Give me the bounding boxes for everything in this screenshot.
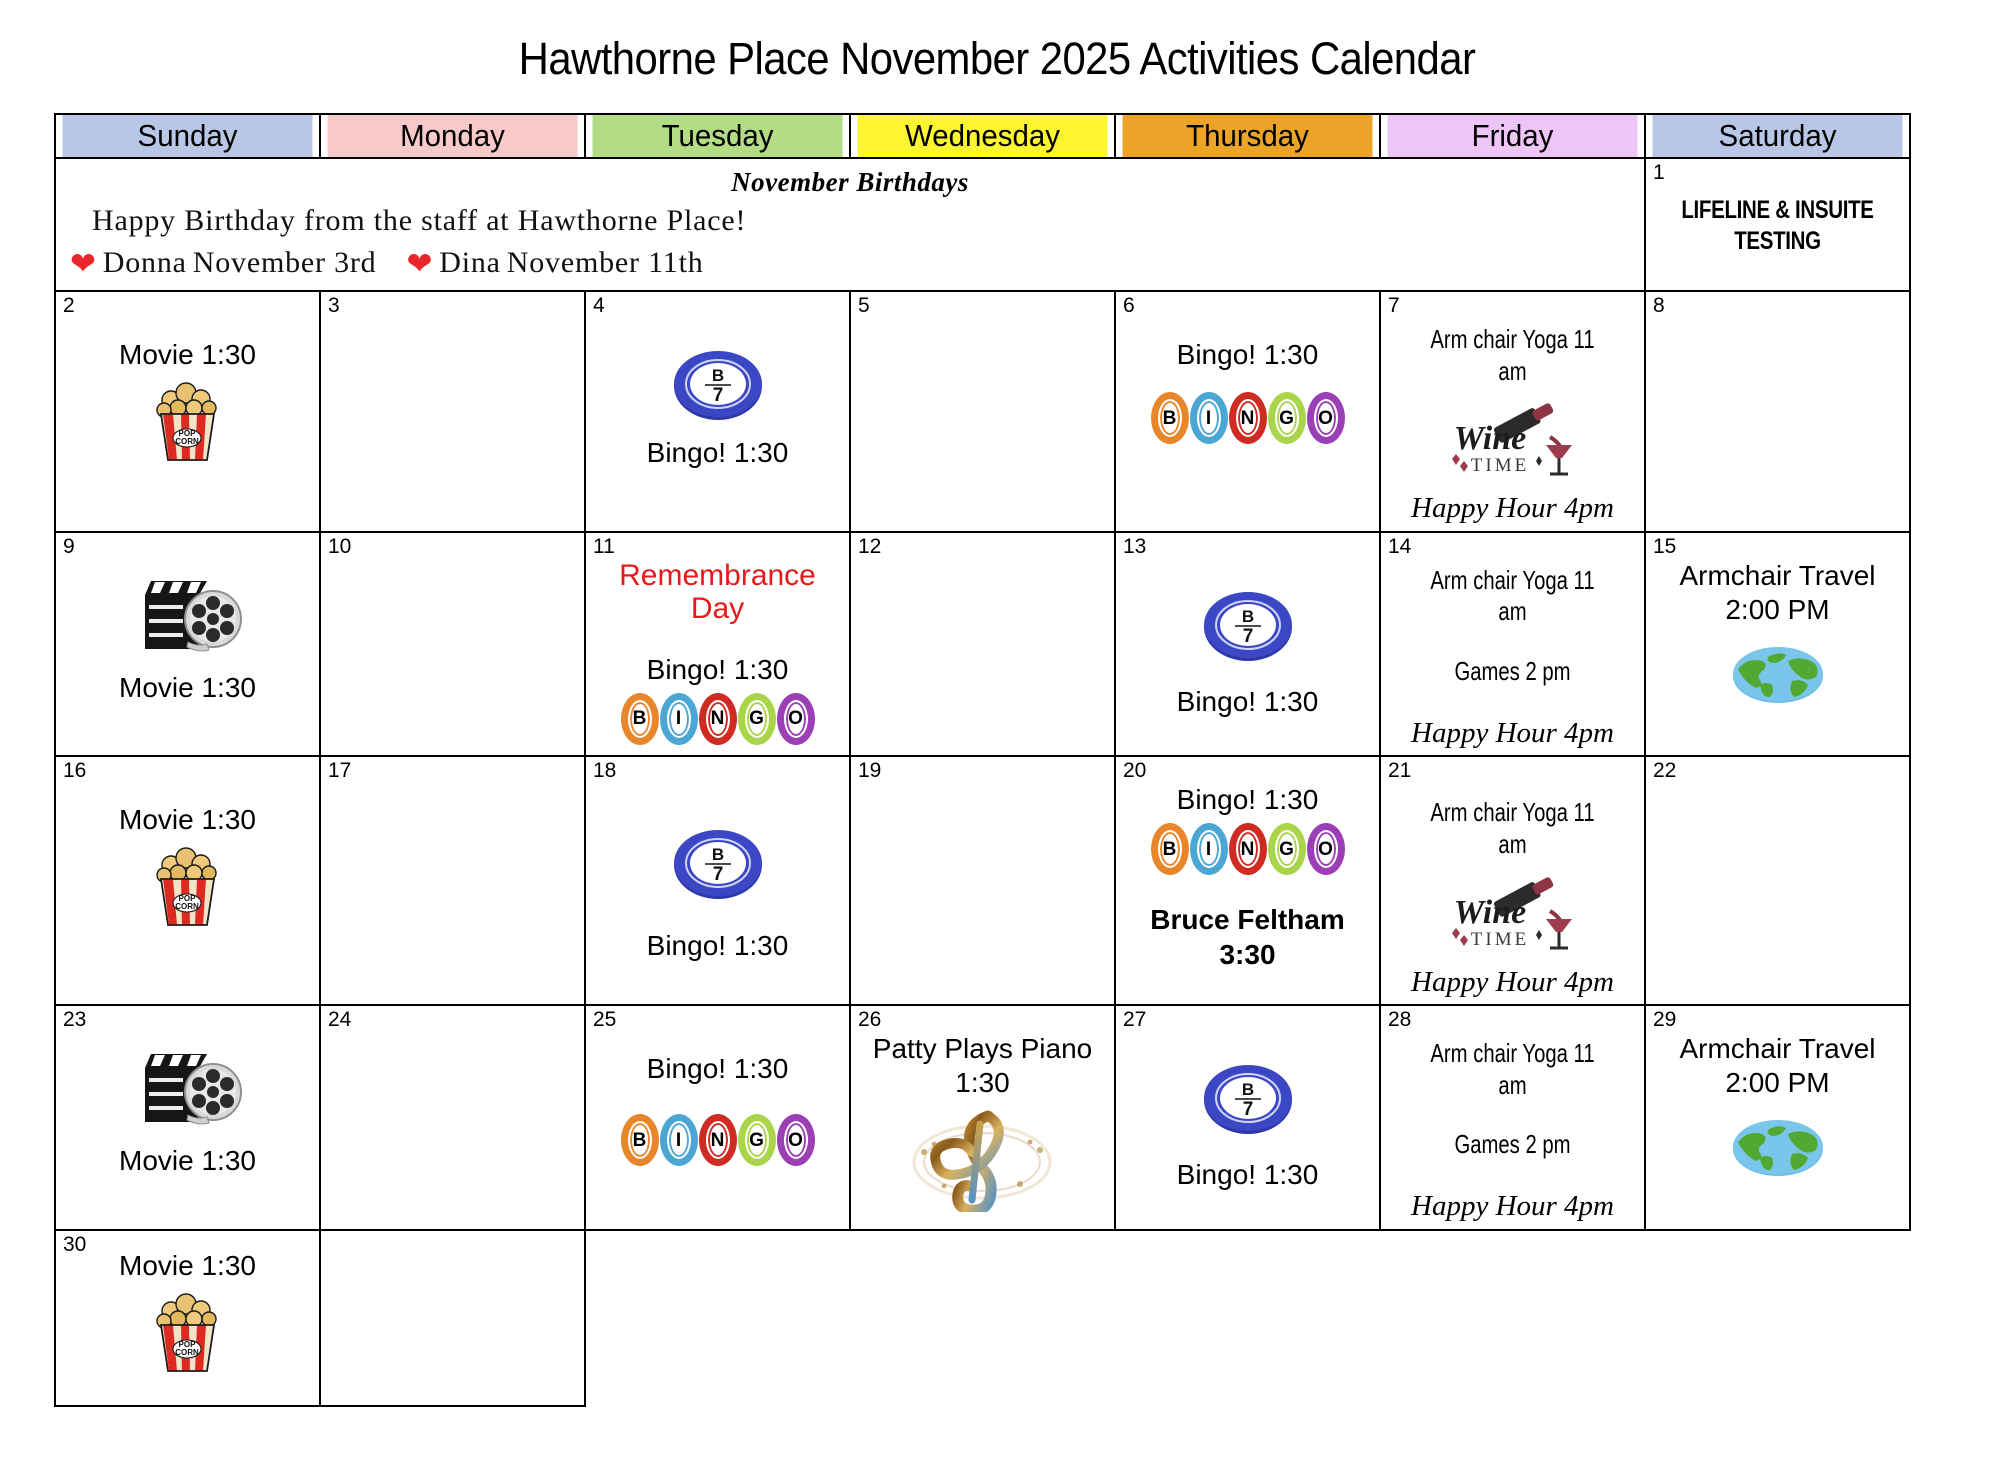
event-armchair-travel-time: 2:00 PM bbox=[1651, 1066, 1904, 1100]
svg-text:B: B bbox=[1241, 607, 1253, 626]
weekday-header-thursday: Thursday bbox=[1122, 114, 1374, 158]
event-bingo: Bingo! 1:30 bbox=[591, 929, 844, 963]
calendar-week-3: 9 bbox=[55, 532, 1910, 757]
svg-text:B: B bbox=[711, 366, 723, 385]
day-cell-17[interactable]: 17 bbox=[320, 756, 585, 1005]
event-bingo: Bingo! 1:30 bbox=[591, 436, 844, 470]
weekday-header-row: Sunday Monday Tuesday Wednesday Thursday… bbox=[55, 114, 1910, 158]
event-bingo: Bingo! 1:30 bbox=[1121, 783, 1374, 817]
day-cell-14[interactable]: 14 Arm chair Yoga 11 am Games 2 pm Happy… bbox=[1380, 532, 1645, 757]
heart-icon: ❤ bbox=[70, 248, 97, 279]
day-cell-10[interactable]: 10 bbox=[320, 532, 585, 757]
weekday-header-tuesday: Tuesday bbox=[592, 114, 844, 158]
globe-icon bbox=[1730, 1114, 1826, 1180]
day-number: 19 bbox=[858, 759, 881, 782]
day-cell-19[interactable]: 19 bbox=[850, 756, 1115, 1005]
popcorn-icon: POP CORN bbox=[149, 1289, 227, 1373]
event-happy-hour: Happy Hour 4pm bbox=[1386, 716, 1639, 751]
day-number: 22 bbox=[1653, 759, 1676, 782]
heart-icon: ❤ bbox=[406, 248, 433, 279]
day-cell-29[interactable]: 29 Armchair Travel 2:00 PM bbox=[1645, 1005, 1910, 1230]
movie-reel-icon bbox=[129, 569, 247, 657]
day-cell-20[interactable]: 20 Bingo! 1:30 B I N G O Bruce Feltham 3… bbox=[1115, 756, 1380, 1005]
grid-filler bbox=[1115, 1230, 1380, 1406]
birthday-heading: November Birthdays bbox=[70, 167, 1630, 198]
day-number: 3 bbox=[328, 294, 340, 317]
event-movie: Movie 1:30 bbox=[61, 803, 314, 837]
day-cell-4[interactable]: 4 B 7 Bi bbox=[585, 291, 850, 532]
day-number: 4 bbox=[593, 294, 605, 317]
event-bingo: Bingo! 1:30 bbox=[1121, 685, 1374, 719]
calendar-week-1: November Birthdays Happy Birthday from t… bbox=[55, 158, 1910, 291]
day-number: 15 bbox=[1653, 535, 1676, 558]
svg-text:TIME: TIME bbox=[1470, 929, 1528, 950]
calendar-table: Sunday Monday Tuesday Wednesday Thursday… bbox=[54, 113, 1911, 1407]
day-number: 10 bbox=[328, 535, 351, 558]
popcorn-icon: POP CORN bbox=[149, 843, 227, 927]
event-happy-hour: Happy Hour 4pm bbox=[1386, 965, 1639, 1000]
svg-text:Wine: Wine bbox=[1453, 894, 1525, 931]
day-number: 29 bbox=[1653, 1008, 1676, 1031]
svg-text:CORN: CORN bbox=[175, 1348, 199, 1357]
svg-text:Wine: Wine bbox=[1453, 420, 1525, 457]
event-guest-speaker-time: 3:30 bbox=[1121, 938, 1374, 972]
day-number: 2 bbox=[63, 294, 75, 317]
day-cell-9[interactable]: 9 bbox=[55, 532, 320, 757]
svg-text:7: 7 bbox=[1242, 1099, 1253, 1120]
svg-text:TIME: TIME bbox=[1470, 455, 1528, 476]
day-cell-15[interactable]: 15 Armchair Travel 2:00 PM bbox=[1645, 532, 1910, 757]
birthday-name-2: Dina bbox=[439, 246, 501, 280]
grid-filler bbox=[1380, 1230, 1645, 1406]
day-number: 14 bbox=[1388, 535, 1411, 558]
day-cell-30[interactable]: 30 Movie 1:30 bbox=[55, 1230, 320, 1406]
day-cell-28[interactable]: 28 Arm chair Yoga 11 am Games 2 pm Happy… bbox=[1380, 1005, 1645, 1230]
treble-clef-icon bbox=[900, 1100, 1065, 1212]
day-number: 12 bbox=[858, 535, 881, 558]
svg-text:CORN: CORN bbox=[175, 902, 199, 911]
day-cell-16[interactable]: 16 Movie 1:30 bbox=[55, 756, 320, 1005]
bingo-letters-icon: B I N G O bbox=[1121, 392, 1374, 444]
calendar-week-4: 16 Movie 1:30 bbox=[55, 756, 1910, 1005]
birthday-date-1: November 3rd bbox=[193, 246, 377, 280]
day-cell-24[interactable]: 24 bbox=[320, 1005, 585, 1230]
bingo-ball-icon: B 7 bbox=[672, 825, 764, 901]
day-cell-8[interactable]: 8 bbox=[1645, 291, 1910, 532]
event-yoga: Arm chair Yoga 11 am bbox=[1414, 1038, 1611, 1101]
svg-text:7: 7 bbox=[712, 864, 723, 885]
day-number: 25 bbox=[593, 1008, 616, 1031]
birthday-date-2: November 11th bbox=[507, 246, 704, 280]
day-cell-18[interactable]: 18 B 7 bbox=[585, 756, 850, 1005]
day-cell-5[interactable]: 5 bbox=[850, 291, 1115, 532]
day-cell-empty-trailing[interactable] bbox=[320, 1230, 585, 1406]
movie-reel-icon bbox=[129, 1042, 247, 1130]
day-number: 16 bbox=[63, 759, 86, 782]
event-armchair-travel: Armchair Travel bbox=[1651, 559, 1904, 593]
weekday-header-saturday: Saturday bbox=[1652, 114, 1904, 158]
grid-filler bbox=[585, 1230, 850, 1406]
day-number: 17 bbox=[328, 759, 351, 782]
day-cell-2[interactable]: 2 Movie 1:30 bbox=[55, 291, 320, 532]
wine-time-icon: Wine TIME bbox=[1438, 875, 1588, 957]
day-number: 26 bbox=[858, 1008, 881, 1031]
bingo-ball-icon: B 7 bbox=[1202, 1060, 1294, 1136]
weekday-header-friday: Friday bbox=[1387, 114, 1639, 158]
event-piano: Patty Plays Piano bbox=[856, 1032, 1109, 1066]
event-games: Games 2 pm bbox=[1414, 1129, 1611, 1161]
event-yoga: Arm chair Yoga 11 am bbox=[1414, 324, 1611, 387]
event-armchair-travel-time: 2:00 PM bbox=[1651, 593, 1904, 627]
day-number: 27 bbox=[1123, 1008, 1146, 1031]
event-guest-speaker: Bruce Feltham bbox=[1121, 903, 1374, 937]
event-bingo: Bingo! 1:30 bbox=[1121, 338, 1374, 372]
weekday-header-monday: Monday bbox=[327, 114, 579, 158]
page-title: Hawthorne Place November 2025 Activities… bbox=[70, 0, 1924, 113]
day-number: 13 bbox=[1123, 535, 1146, 558]
event-games: Games 2 pm bbox=[1414, 656, 1611, 688]
grid-filler bbox=[850, 1230, 1115, 1406]
day-number: 21 bbox=[1388, 759, 1411, 782]
calendar-week-2: 2 Movie 1:30 bbox=[55, 291, 1910, 532]
weekday-header-wednesday: Wednesday bbox=[857, 114, 1109, 158]
day-number: 7 bbox=[1388, 294, 1400, 317]
day-cell-11[interactable]: 11 Remembrance Day Bingo! 1:30 B I N G O bbox=[585, 532, 850, 757]
event-armchair-travel: Armchair Travel bbox=[1651, 1032, 1904, 1066]
day-cell-6[interactable]: 6 Bingo! 1:30 B I N G O bbox=[1115, 291, 1380, 532]
event-yoga: Arm chair Yoga 11 am bbox=[1414, 797, 1611, 860]
event-movie: Movie 1:30 bbox=[61, 1249, 314, 1283]
day-number: 9 bbox=[63, 535, 75, 558]
day-cell-25[interactable]: 25 Bingo! 1:30 B I N G O bbox=[585, 1005, 850, 1230]
bingo-letters-icon: B I N G O bbox=[591, 693, 844, 745]
bingo-ball-icon: B 7 bbox=[1202, 587, 1294, 663]
event-happy-hour: Happy Hour 4pm bbox=[1386, 1189, 1639, 1224]
svg-text:7: 7 bbox=[712, 385, 723, 406]
day-cell-12[interactable]: 12 bbox=[850, 532, 1115, 757]
day-number: 11 bbox=[593, 535, 615, 558]
day-cell-13[interactable]: 13 B 7 B bbox=[1115, 532, 1380, 757]
birthday-entries: ❤ Donna November 3rd ❤ Dina November 11t… bbox=[70, 246, 1630, 280]
svg-text:7: 7 bbox=[1242, 626, 1253, 647]
calendar-week-5: 23 bbox=[55, 1005, 1910, 1230]
event-movie: Movie 1:30 bbox=[61, 671, 314, 705]
event-bingo: Bingo! 1:30 bbox=[591, 653, 844, 687]
day-number: 5 bbox=[858, 294, 870, 317]
wine-time-icon: Wine TIME bbox=[1438, 401, 1588, 483]
popcorn-icon: POP CORN bbox=[149, 378, 227, 462]
bingo-letters-icon: B I N G O bbox=[1121, 823, 1374, 875]
event-remembrance-day: Remembrance Day bbox=[591, 559, 844, 625]
event-movie: Movie 1:30 bbox=[61, 338, 314, 372]
bingo-ball-icon: B 7 bbox=[672, 346, 764, 422]
day-cell-7[interactable]: 7 Arm chair Yoga 11 am bbox=[1380, 291, 1645, 532]
day-number: 20 bbox=[1123, 759, 1146, 782]
day-number: 18 bbox=[593, 759, 616, 782]
day-cell-21[interactable]: 21 Arm chair Yoga 11 am bbox=[1380, 756, 1645, 1005]
event-piano-time: 1:30 bbox=[856, 1066, 1109, 1100]
event-bingo: Bingo! 1:30 bbox=[1121, 1158, 1374, 1192]
event-happy-hour: Happy Hour 4pm bbox=[1386, 491, 1639, 526]
birthday-banner: November Birthdays Happy Birthday from t… bbox=[55, 158, 1645, 291]
svg-text:CORN: CORN bbox=[175, 437, 199, 446]
bingo-letters-icon: B I N G O bbox=[591, 1114, 844, 1166]
day-number: 6 bbox=[1123, 294, 1135, 317]
weekday-header-sunday: Sunday bbox=[62, 114, 314, 158]
day-number: 23 bbox=[63, 1008, 86, 1031]
calendar-week-6: 30 Movie 1:30 bbox=[55, 1230, 1910, 1406]
day-cell-27[interactable]: 27 B 7 B bbox=[1115, 1005, 1380, 1230]
globe-icon bbox=[1730, 641, 1826, 707]
day-cell-3[interactable]: 3 bbox=[320, 291, 585, 532]
svg-text:B: B bbox=[1241, 1080, 1253, 1099]
day-number: 30 bbox=[63, 1233, 86, 1256]
day-number: 28 bbox=[1388, 1008, 1411, 1031]
birthday-greeting: Happy Birthday from the staff at Hawthor… bbox=[92, 204, 1630, 238]
day-cell-1[interactable]: 1 LIFELINE & INSUITE TESTING bbox=[1645, 158, 1910, 291]
event-movie: Movie 1:30 bbox=[61, 1144, 314, 1178]
day-cell-23[interactable]: 23 bbox=[55, 1005, 320, 1230]
day-number: 24 bbox=[328, 1008, 351, 1031]
svg-text:B: B bbox=[711, 845, 723, 864]
day-number: 8 bbox=[1653, 294, 1665, 317]
birthday-name-1: Donna bbox=[103, 246, 187, 280]
day-cell-26[interactable]: 26 Patty Plays Piano 1:30 bbox=[850, 1005, 1115, 1230]
grid-filler bbox=[1645, 1230, 1910, 1406]
day-number: 1 bbox=[1653, 161, 1665, 184]
calendar-page: Hawthorne Place November 2025 Activities… bbox=[0, 0, 1994, 1482]
lifeline-testing-label: LIFELINE & INSUITE TESTING bbox=[1670, 195, 1886, 258]
day-cell-22[interactable]: 22 bbox=[1645, 756, 1910, 1005]
event-yoga: Arm chair Yoga 11 am bbox=[1414, 565, 1611, 628]
event-bingo: Bingo! 1:30 bbox=[591, 1052, 844, 1086]
